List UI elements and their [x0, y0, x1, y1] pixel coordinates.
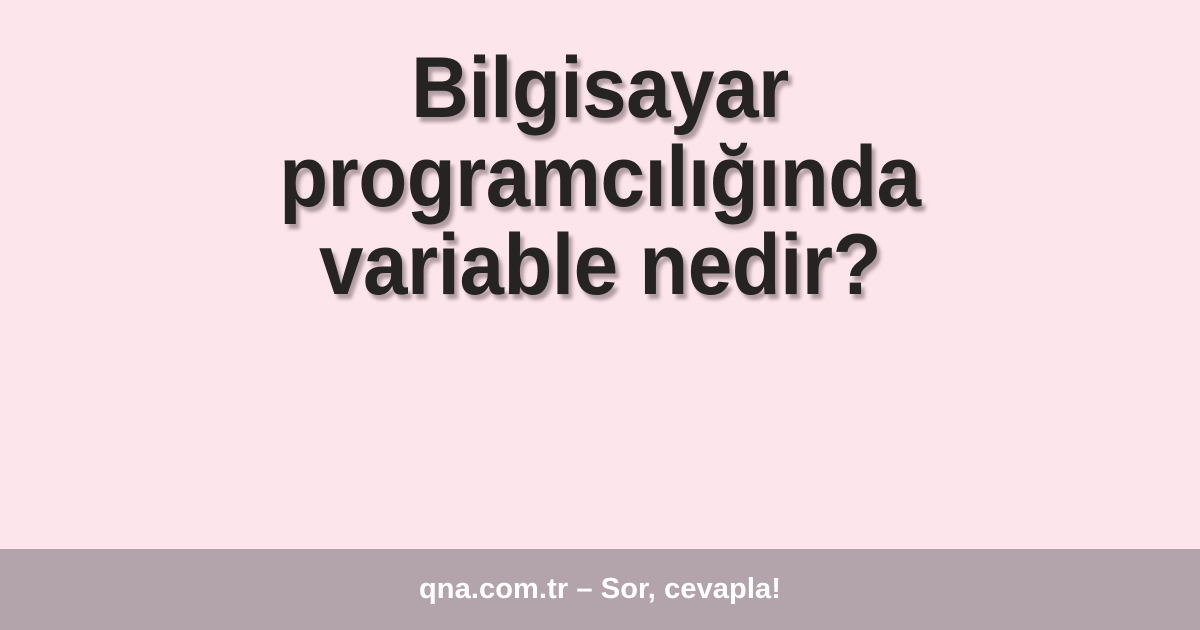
headline-area: Bilgisayar programcılığında variable ned…	[0, 0, 1200, 549]
page-title: Bilgisayar programcılığında variable ned…	[98, 44, 1102, 310]
footer-bar: qna.com.tr – Sor, cevapla!	[0, 549, 1200, 630]
share-card: Bilgisayar programcılığında variable ned…	[0, 0, 1200, 630]
site-branding-text: qna.com.tr – Sor, cevapla!	[419, 575, 781, 604]
